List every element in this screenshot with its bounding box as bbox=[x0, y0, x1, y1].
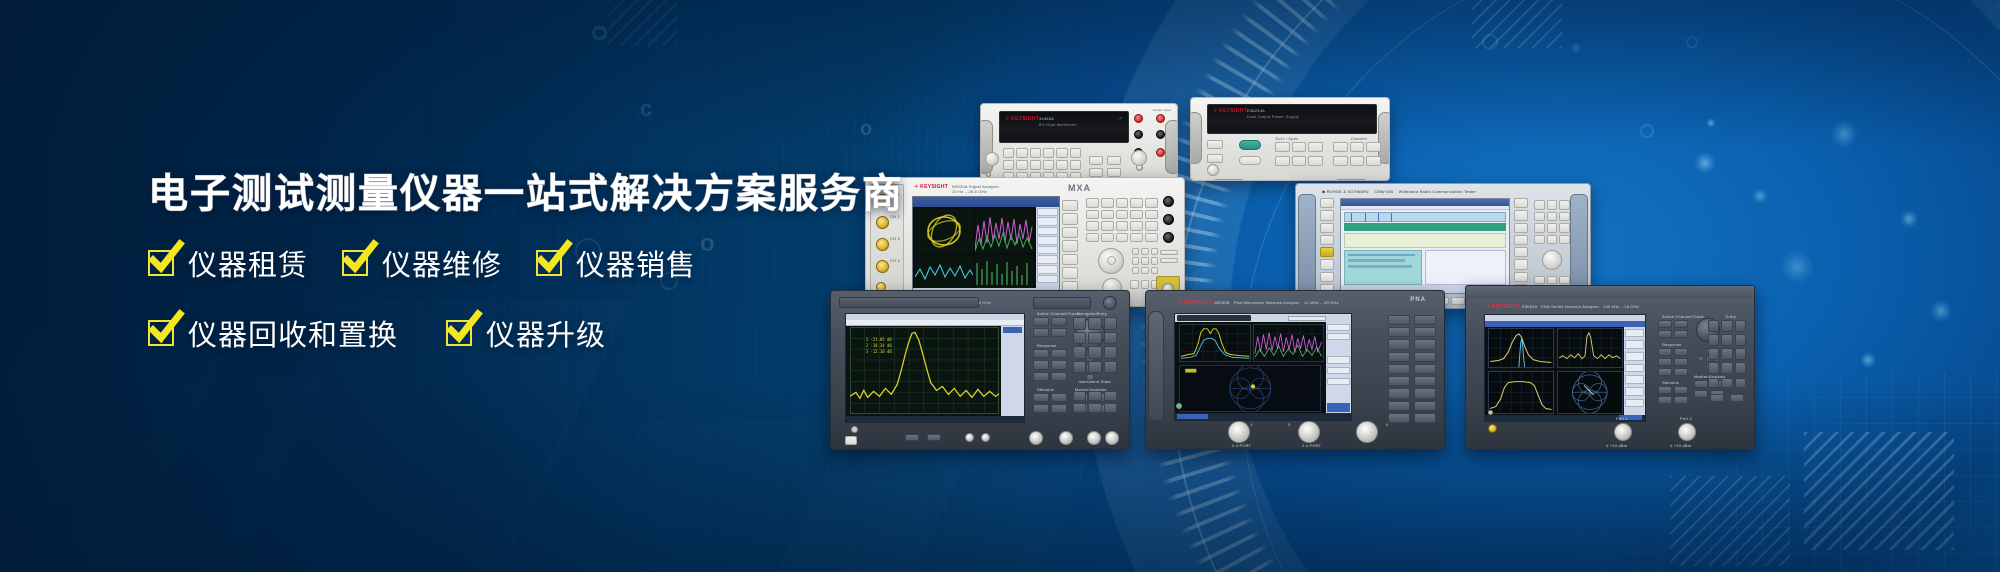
instrument-cluster: ✛ KEYSIGHT 34465A 6½ Digit Multimeter □¹… bbox=[1035, 95, 2000, 515]
feature-label: 仪器租赁 bbox=[188, 242, 308, 284]
feature-label: 仪器销售 bbox=[576, 242, 696, 284]
instrument-power-supply: ✛ KEYSIGHT E36234A Dual Output Power Sup… bbox=[1190, 97, 1390, 181]
feature-item-instrument-repair[interactable]: 仪器维修 bbox=[342, 242, 502, 284]
page-title: 电子测试测量仪器一站式解决方案服务商 bbox=[148, 172, 968, 216]
checkbox-checked-icon bbox=[342, 250, 368, 276]
instrument-network-analyzer-pna: ✛ KEYSIGHT N5235B PNA Microwave Network … bbox=[1145, 290, 1445, 450]
feature-label: 仪器回收和置换 bbox=[188, 312, 398, 354]
feature-label: 仪器升级 bbox=[486, 312, 606, 354]
feature-item-instrument-sales[interactable]: 仪器销售 bbox=[536, 242, 696, 284]
feature-item-recycle-exchange[interactable]: 仪器回收和置换 bbox=[148, 312, 398, 354]
feature-list: 仪器租赁 仪器维修 仪器销售 bbox=[148, 242, 968, 354]
checkbox-checked-icon bbox=[446, 320, 472, 346]
banner-copy: 电子测试测量仪器一站式解决方案服务商 仪器租赁 bbox=[148, 172, 968, 354]
checkbox-checked-icon bbox=[148, 250, 174, 276]
feature-row-2: 仪器回收和置换 仪器升级 bbox=[148, 312, 968, 354]
instrument-badge-mxa: MXA bbox=[1068, 183, 1091, 193]
hero-banner: o ᴄ ᴏ ᴏ ᴄ ✛ KEYSIGHT 34465A 6½ Digit Mul… bbox=[0, 0, 2000, 572]
checkbox-checked-icon bbox=[148, 320, 174, 346]
feature-item-instrument-rental[interactable]: 仪器租赁 bbox=[148, 242, 308, 284]
instrument-network-analyzer-compact: ✛ KEYSIGHT E5063A ENA Series Network Ana… bbox=[1465, 285, 1755, 450]
feature-row-1: 仪器租赁 仪器维修 仪器销售 bbox=[148, 242, 968, 284]
feature-item-instrument-upgrade[interactable]: 仪器升级 bbox=[446, 312, 606, 354]
feature-label: 仪器维修 bbox=[382, 242, 502, 284]
checkbox-checked-icon bbox=[536, 250, 562, 276]
